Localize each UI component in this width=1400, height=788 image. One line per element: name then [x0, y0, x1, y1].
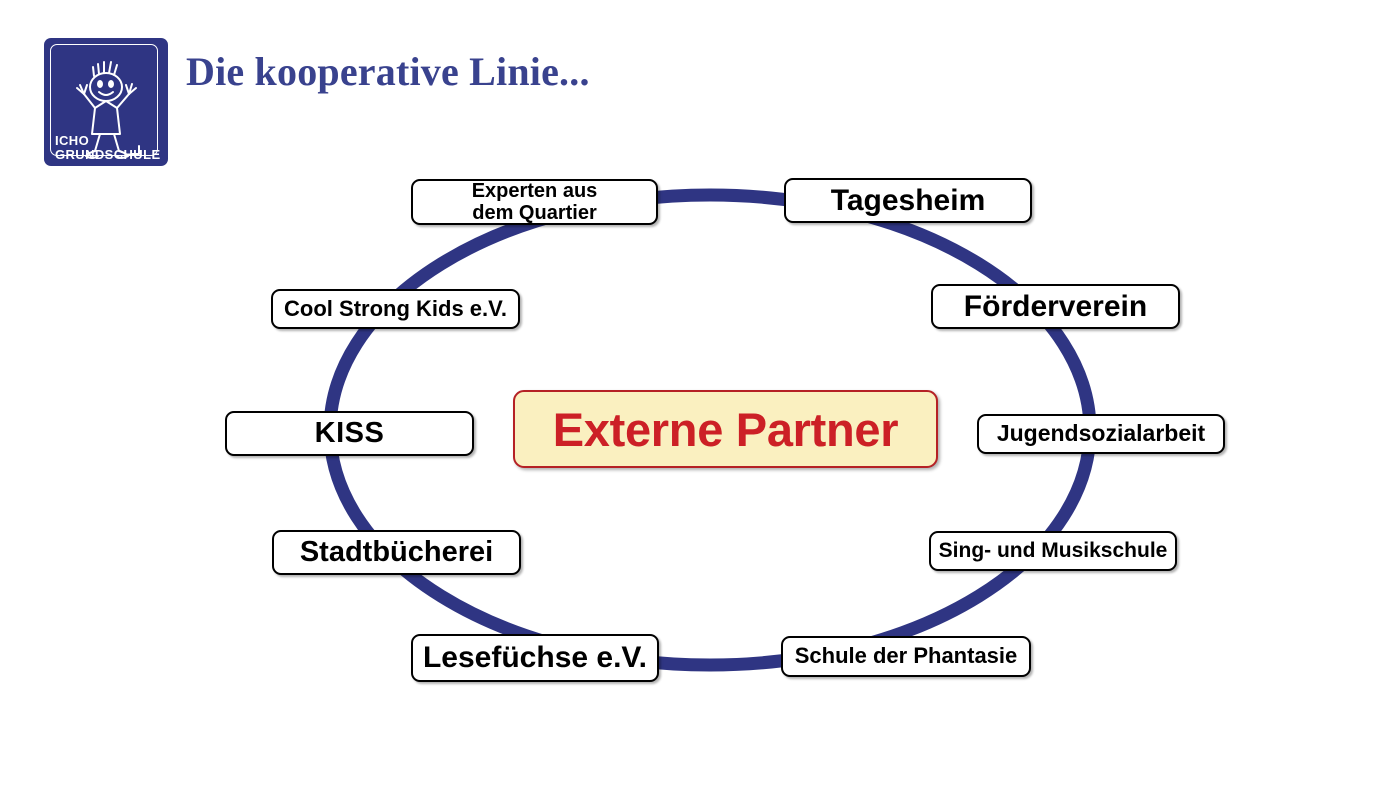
- node-label-line2: dem Quartier: [472, 202, 596, 224]
- node-cool-strong-kids-ev[interactable]: Cool Strong Kids e.V.: [271, 289, 520, 329]
- node-label: Schule der Phantasie: [795, 644, 1018, 669]
- node-label: Jugendsozialarbeit: [997, 421, 1205, 447]
- center-node-label: Externe Partner: [553, 402, 899, 457]
- node-label-line1: Experten aus: [472, 180, 598, 202]
- node-label: KISS: [315, 417, 385, 449]
- node-label: Sing- und Musikschule: [939, 539, 1168, 563]
- node-kiss[interactable]: KISS: [225, 411, 474, 456]
- node-lesefuechse-ev[interactable]: Lesefüchse e.V.: [411, 634, 659, 682]
- node-label: Förderverein: [964, 290, 1147, 324]
- node-stadtbuecherei[interactable]: Stadtbücherei: [272, 530, 521, 575]
- node-label: Experten aus dem Quartier: [472, 180, 598, 225]
- external-partners-diagram: Experten aus dem Quartier Tagesheim Förd…: [0, 0, 1400, 788]
- node-schule-der-phantasie[interactable]: Schule der Phantasie: [781, 636, 1031, 677]
- node-tagesheim[interactable]: Tagesheim: [784, 178, 1032, 223]
- node-label: Tagesheim: [831, 184, 986, 218]
- node-foerderverein[interactable]: Förderverein: [931, 284, 1180, 329]
- center-node-externe-partner[interactable]: Externe Partner: [513, 390, 938, 468]
- node-label: Stadtbücherei: [300, 536, 493, 568]
- node-experten-aus-dem-quartier[interactable]: Experten aus dem Quartier: [411, 179, 658, 225]
- node-label: Lesefüchse e.V.: [423, 641, 647, 675]
- node-jugendsozialarbeit[interactable]: Jugendsozialarbeit: [977, 414, 1225, 454]
- node-label: Cool Strong Kids e.V.: [284, 297, 507, 322]
- node-sing-und-musikschule[interactable]: Sing- und Musikschule: [929, 531, 1177, 571]
